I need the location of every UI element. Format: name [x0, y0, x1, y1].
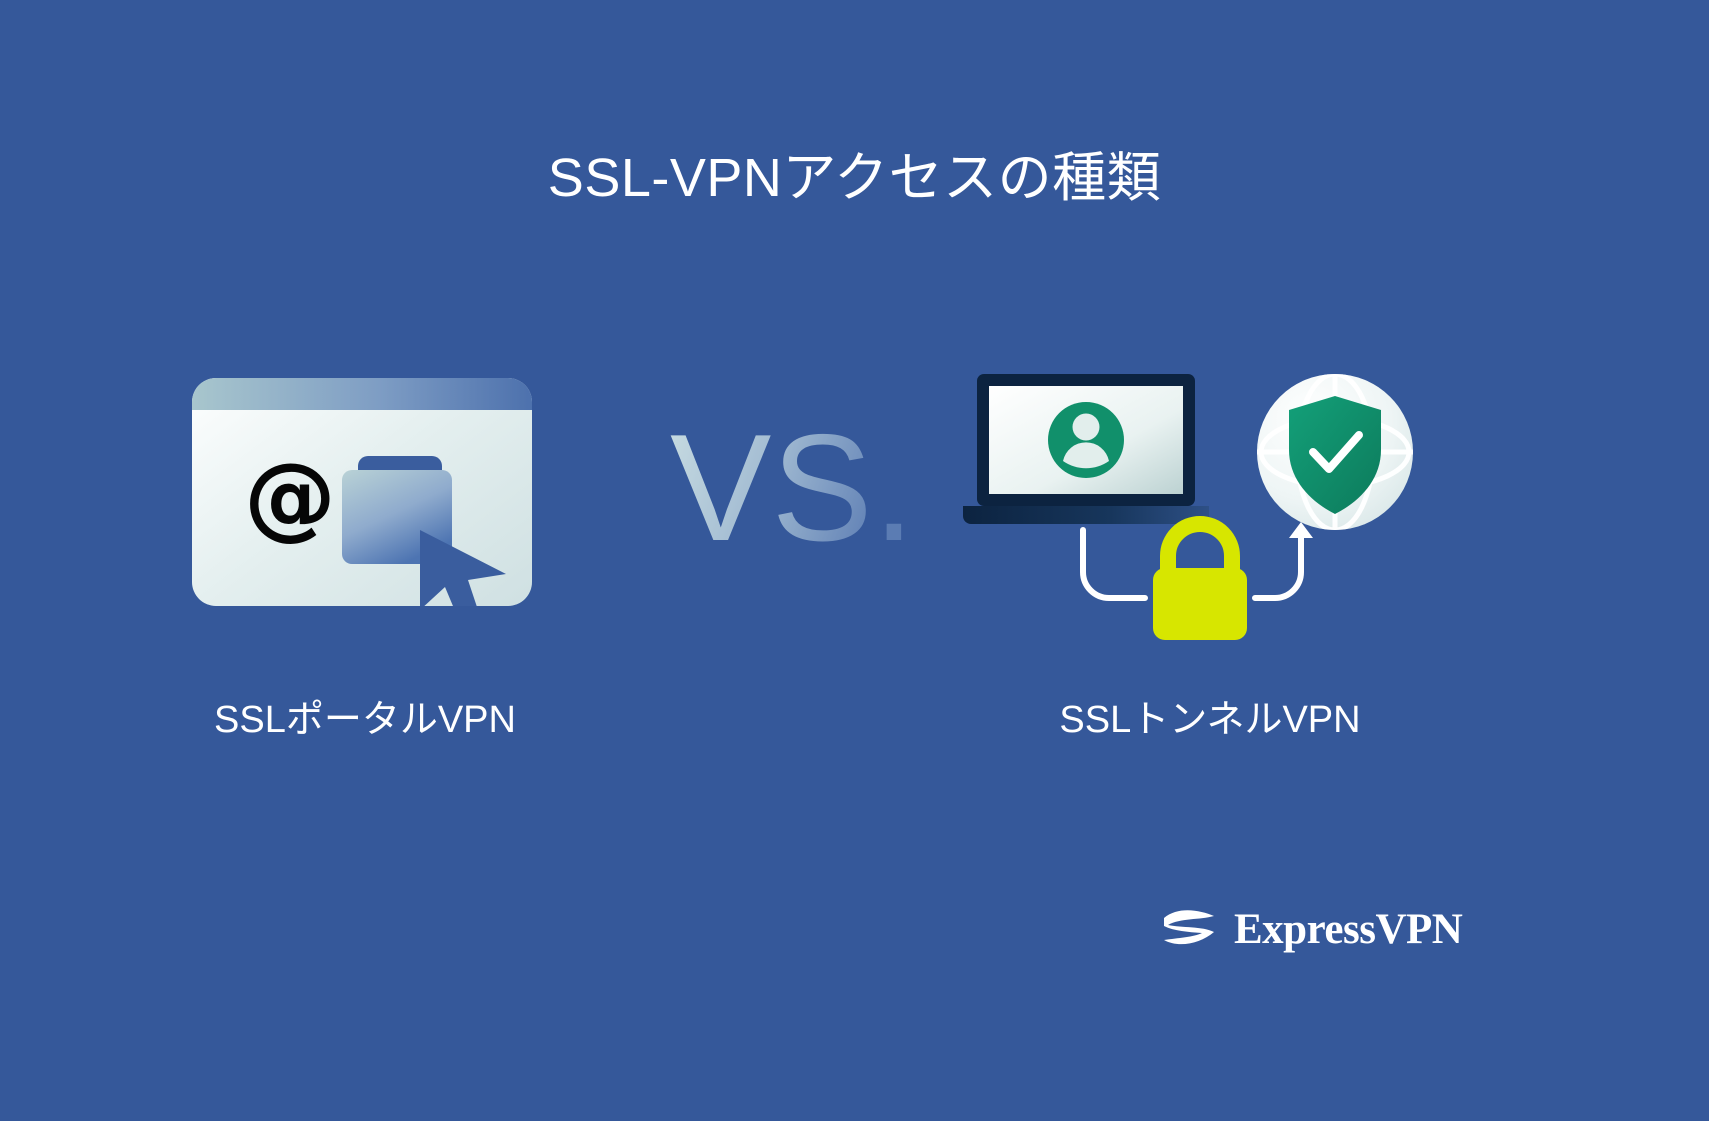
infographic-canvas: SSL-VPNアクセスの種類	[0, 0, 1709, 1121]
versus-label: VS.	[670, 403, 915, 573]
at-symbol-icon: @	[244, 443, 336, 550]
laptop-icon	[963, 374, 1209, 524]
user-avatar-icon	[1048, 402, 1124, 478]
card-title-bar	[192, 378, 532, 410]
expressvpn-mark-icon	[1158, 904, 1220, 954]
portal-card: @	[192, 378, 532, 606]
page-title: SSL-VPNアクセスの種類	[0, 145, 1709, 213]
ssl-tunnel-vpn-illustration	[955, 360, 1425, 650]
versus-separator: VS.	[660, 400, 950, 580]
laptop-base	[963, 506, 1209, 524]
ssl-portal-vpn-illustration: @	[192, 378, 532, 606]
expressvpn-logo: ExpressVPN	[1158, 898, 1462, 960]
padlock-icon	[1153, 524, 1247, 640]
caption-ssl-portal-vpn: SSLポータルVPN	[120, 688, 610, 743]
caption-ssl-tunnel-vpn: SSLトンネルVPN	[965, 688, 1455, 743]
expressvpn-wordmark: ExpressVPN	[1234, 905, 1462, 954]
